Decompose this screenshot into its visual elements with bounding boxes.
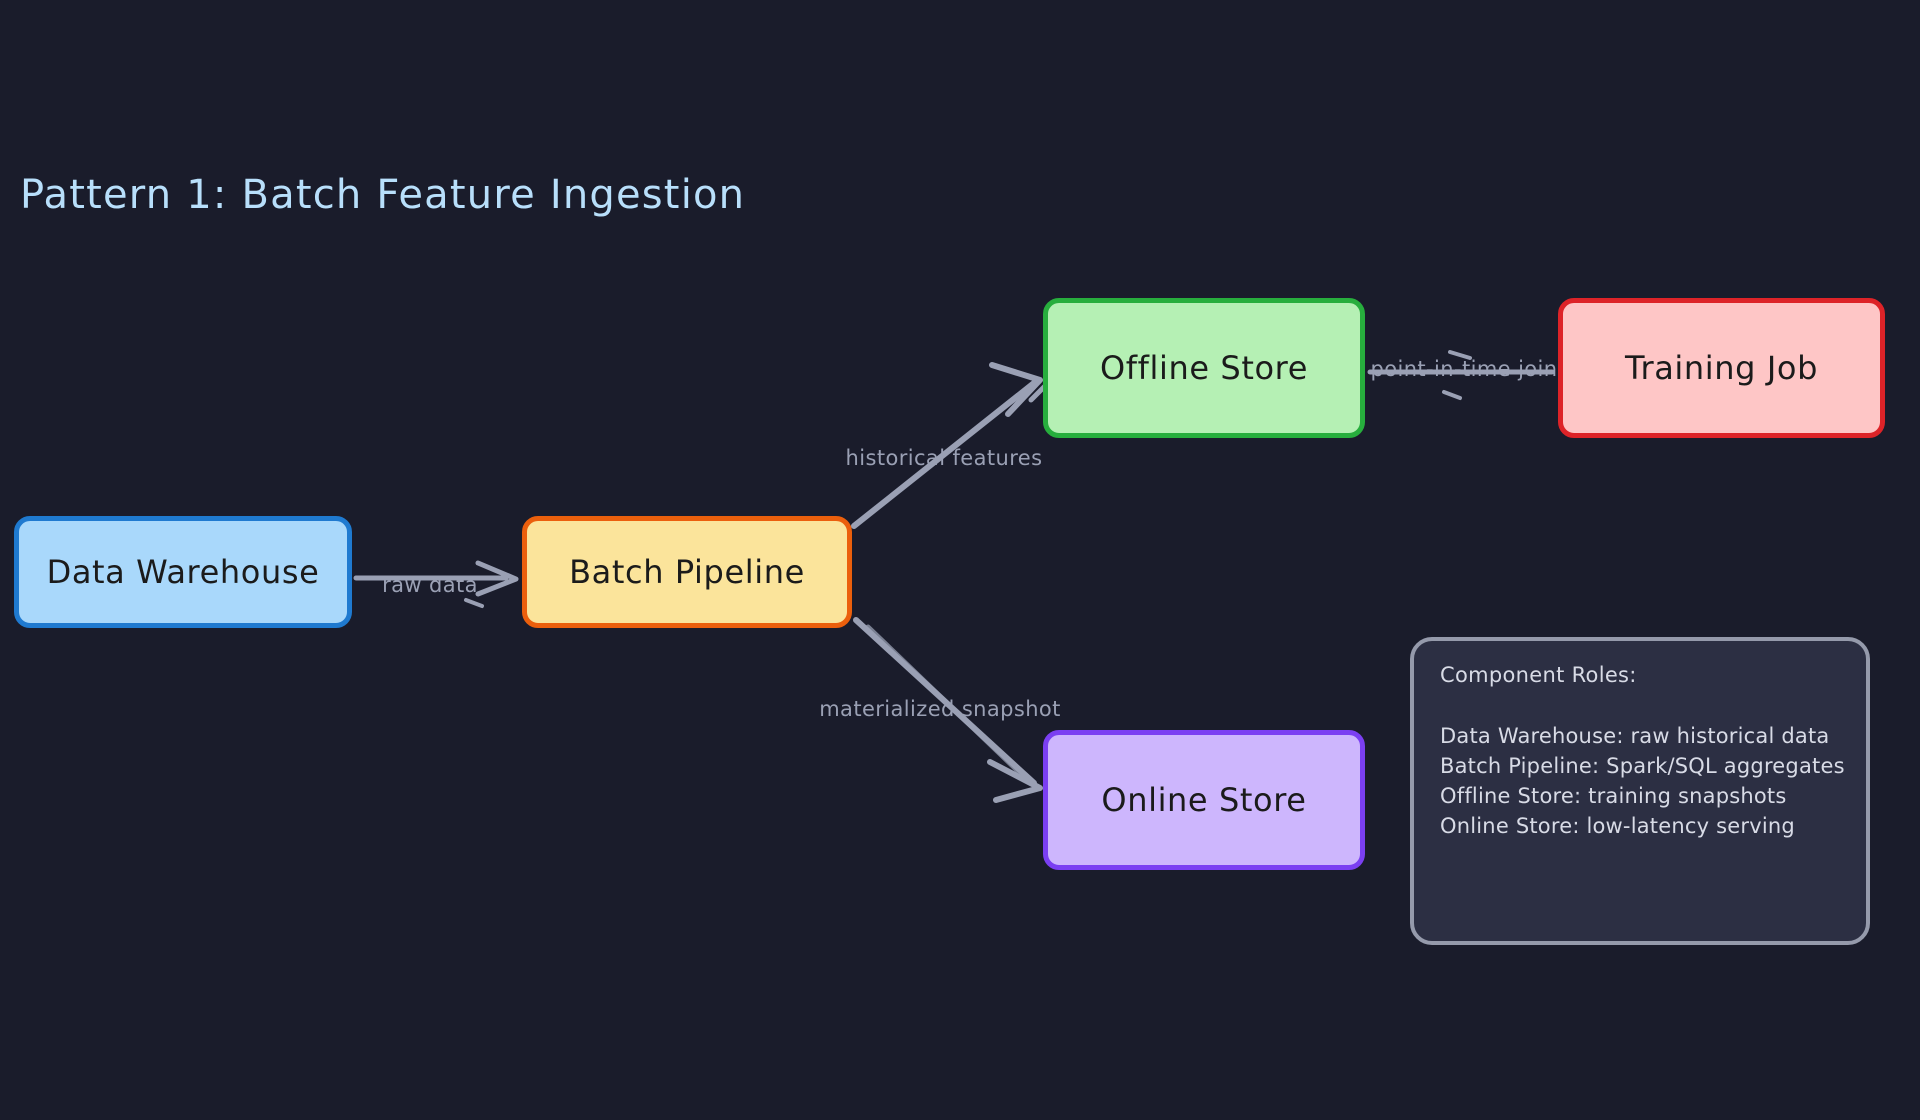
legend-line-offline-store: Offline Store: training snapshots	[1440, 781, 1840, 811]
component-roles-legend: Component Roles: Data Warehouse: raw his…	[1410, 637, 1870, 945]
node-label-online-store: Online Store	[1101, 781, 1306, 819]
legend-line-batch-pipeline: Batch Pipeline: Spark/SQL aggregates	[1440, 751, 1840, 781]
diagram-canvas: Pattern 1: Batch Feature Ingestion	[0, 0, 1920, 1120]
node-offline-store[interactable]: Offline Store	[1043, 298, 1365, 438]
node-label-offline-store: Offline Store	[1100, 349, 1308, 387]
legend-line-online-store: Online Store: low-latency serving	[1440, 811, 1840, 841]
node-label-training-job: Training Job	[1625, 349, 1818, 387]
edge-label-historical-features: historical features	[846, 446, 1043, 470]
legend-line-data-warehouse: Data Warehouse: raw historical data	[1440, 721, 1840, 751]
node-online-store[interactable]: Online Store	[1043, 730, 1365, 870]
legend-heading: Component Roles:	[1440, 663, 1840, 687]
node-label-data-warehouse: Data Warehouse	[47, 553, 320, 591]
node-label-batch-pipeline: Batch Pipeline	[569, 553, 805, 591]
edge-label-raw-data: raw data	[382, 573, 478, 597]
node-data-warehouse[interactable]: Data Warehouse	[14, 516, 352, 628]
node-batch-pipeline[interactable]: Batch Pipeline	[522, 516, 852, 628]
node-training-job[interactable]: Training Job	[1558, 298, 1885, 438]
edge-label-materialized-snapshot: materialized snapshot	[819, 697, 1061, 721]
edge-label-point-in-time-join: point-in-time join	[1370, 357, 1557, 381]
